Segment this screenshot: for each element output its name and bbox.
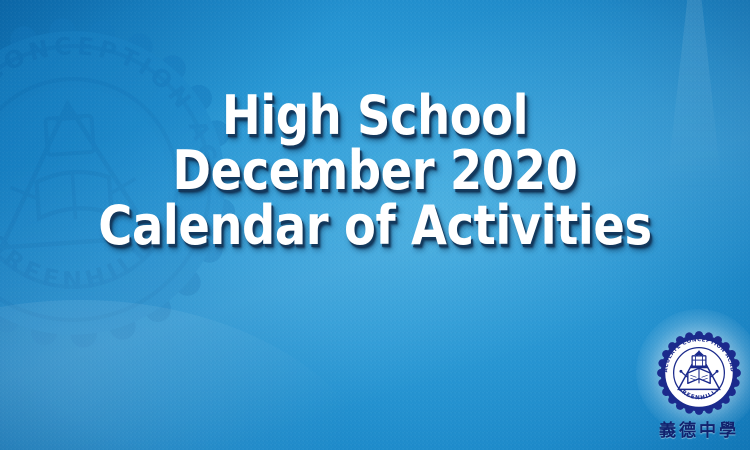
title-line-school-level: High School: [53, 88, 698, 143]
title-line-subject: Calendar of Activities: [53, 198, 698, 253]
title-line-month-year: December 2020: [53, 143, 698, 198]
calendar-banner: IMMACULATE CONCEPTION ACADEMY GREENHILLS…: [0, 0, 750, 450]
ica-seal-icon: IMMACULATE CONCEPTION ACADEMY GREENHILLS: [656, 330, 742, 416]
banner-title: High School December 2020 Calendar of Ac…: [0, 88, 750, 253]
logo-chinese-name: 義德中學: [648, 416, 750, 441]
school-logo: IMMACULATE CONCEPTION ACADEMY GREENHILLS: [648, 330, 750, 445]
